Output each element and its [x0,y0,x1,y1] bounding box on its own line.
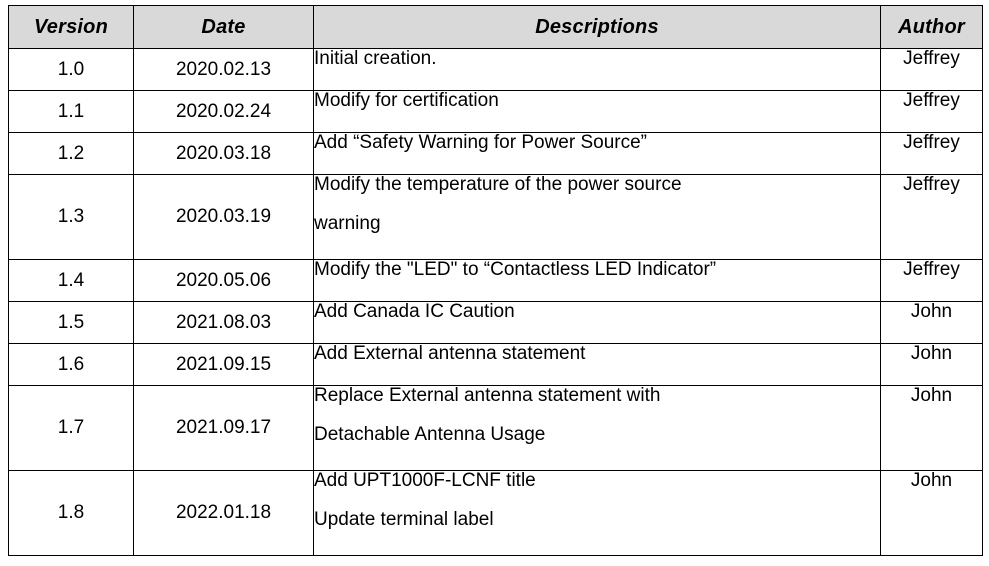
cell-version: 1.0 [9,49,134,91]
description-line: Add External antenna statement [314,344,880,364]
table-header: Version Date Descriptions Author [9,6,983,49]
cell-version: 1.7 [9,386,134,471]
table-row: 1.32020.03.19Modify the temperature of t… [9,175,983,260]
column-header-descriptions: Descriptions [314,6,881,49]
table-row: 1.02020.02.13Initial creation.Jeffrey [9,49,983,91]
cell-date: 2021.09.17 [134,386,314,471]
cell-date: 2022.01.18 [134,471,314,556]
description-line: Add Canada IC Caution [314,302,880,322]
cell-version: 1.6 [9,344,134,386]
table-row: 1.12020.02.24Modify for certificationJef… [9,91,983,133]
cell-descriptions: Initial creation. [314,49,881,91]
cell-descriptions: Add External antenna statement [314,344,881,386]
cell-author: John [881,471,983,556]
cell-date: 2020.03.19 [134,175,314,260]
cell-descriptions: Replace External antenna statement withD… [314,386,881,471]
cell-author: Jeffrey [881,49,983,91]
cell-version: 1.2 [9,133,134,175]
cell-date: 2021.09.15 [134,344,314,386]
cell-descriptions: Modify the temperature of the power sour… [314,175,881,260]
description-line: warning [314,214,880,234]
table-row: 1.42020.05.06Modify the "LED" to “Contac… [9,260,983,302]
description-line: Modify for certification [314,91,880,111]
revision-history-table: Version Date Descriptions Author 1.02020… [8,5,983,556]
table-row: 1.52021.08.03Add Canada IC CautionJohn [9,302,983,344]
column-header-date: Date [134,6,314,49]
cell-date: 2021.08.03 [134,302,314,344]
cell-descriptions: Add Canada IC Caution [314,302,881,344]
cell-author: Jeffrey [881,175,983,260]
table-row: 1.22020.03.18Add “Safety Warning for Pow… [9,133,983,175]
cell-author: John [881,344,983,386]
table-body: 1.02020.02.13Initial creation.Jeffrey1.1… [9,49,983,556]
description-line: Add “Safety Warning for Power Source” [314,133,880,153]
cell-descriptions: Add UPT1000F-LCNF titleUpdate terminal l… [314,471,881,556]
cell-version: 1.8 [9,471,134,556]
cell-author: John [881,386,983,471]
cell-date: 2020.02.13 [134,49,314,91]
cell-version: 1.4 [9,260,134,302]
cell-version: 1.5 [9,302,134,344]
table-row: 1.72021.09.17Replace External antenna st… [9,386,983,471]
cell-author: Jeffrey [881,133,983,175]
cell-version: 1.3 [9,175,134,260]
description-line: Add UPT1000F-LCNF title [314,471,880,491]
cell-descriptions: Add “Safety Warning for Power Source” [314,133,881,175]
table-header-row: Version Date Descriptions Author [9,6,983,49]
cell-descriptions: Modify for certification [314,91,881,133]
description-line: Detachable Antenna Usage [314,425,880,445]
cell-author: Jeffrey [881,91,983,133]
cell-author: John [881,302,983,344]
column-header-version: Version [9,6,134,49]
cell-author: Jeffrey [881,260,983,302]
column-header-author: Author [881,6,983,49]
page-root: Version Date Descriptions Author 1.02020… [0,0,989,566]
table-row: 1.82022.01.18Add UPT1000F-LCNF titleUpda… [9,471,983,556]
cell-date: 2020.02.24 [134,91,314,133]
cell-date: 2020.03.18 [134,133,314,175]
description-line: Initial creation. [314,49,880,69]
cell-descriptions: Modify the "LED" to “Contactless LED Ind… [314,260,881,302]
description-line: Update terminal label [314,510,880,530]
cell-version: 1.1 [9,91,134,133]
description-line: Modify the temperature of the power sour… [314,175,880,195]
description-line: Modify the "LED" to “Contactless LED Ind… [314,260,880,280]
description-line: Replace External antenna statement with [314,386,880,406]
table-row: 1.62021.09.15Add External antenna statem… [9,344,983,386]
cell-date: 2020.05.06 [134,260,314,302]
